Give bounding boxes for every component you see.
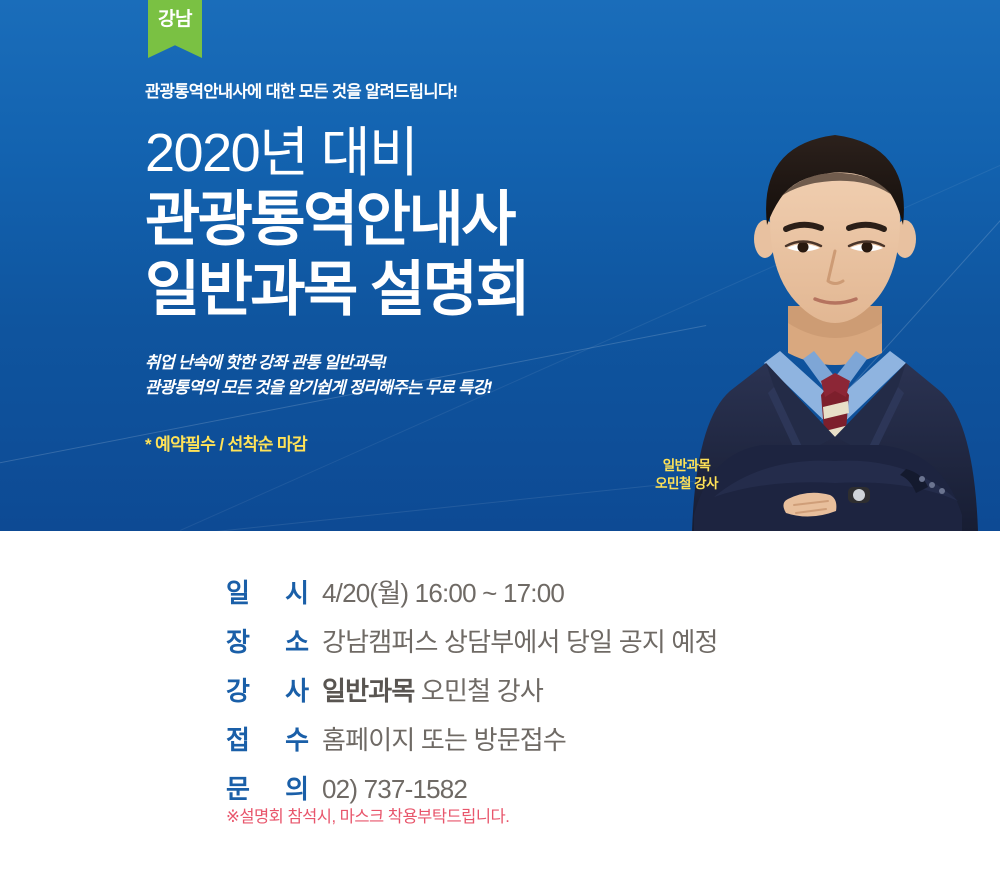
hero-description-line-1: 취업 난속에 핫한 강좌 관통 일반과목! [145,351,705,377]
event-details-panel: 일 시 4/20(월) 16:00 ~ 17:00 장 소 강남캠퍼스 상담부에… [0,531,1000,880]
mask-footnote: ※설명회 참석시, 마스크 착용부탁드립니다. [226,803,509,827]
hero-reservation-note: * 예약필수 / 선착순 마감 [145,430,705,455]
table-row: 문 의 02) 737-1582 [222,769,718,806]
hero-description-line-2: 관광통역의 모든 것을 알기쉽게 정리해주는 무료 특강! [145,376,705,402]
detail-value-inquiry: 02) 737-1582 [322,774,467,805]
table-row: 강 사 일반과목 오민철 강사 [222,671,718,708]
detail-label-instructor: 강 사 [222,671,322,708]
instructor-subject: 일반과목 [655,457,718,475]
table-row: 장 소 강남캠퍼스 상담부에서 당일 공지 예정 [222,622,718,659]
hero-title-line-3: 일반과목 설명회 [145,255,705,325]
hero-title-line-1: 2020년 대비 [145,125,705,182]
campus-badge-label: 강남 [158,10,192,29]
hero-banner: 강남 관광통역안내사에 대한 모든 것을 알려드립니다! 2020년 대비 관광… [0,0,1000,531]
hero-eyebrow: 관광통역안내사에 대한 모든 것을 알려드립니다! [145,82,705,103]
campus-badge: 강남 [148,0,202,58]
instructor-caption: 일반과목 오민철 강사 [655,457,718,493]
instructor-name: 오민철 강사 [655,475,718,493]
table-row: 접 수 홈페이지 또는 방문접수 [222,720,718,757]
detail-value-location: 강남캠퍼스 상담부에서 당일 공지 예정 [322,622,718,659]
hero-description: 취업 난속에 핫한 강좌 관통 일반과목! 관광통역의 모든 것을 알기쉽게 정… [145,351,705,402]
detail-value-registration: 홈페이지 또는 방문접수 [322,720,566,757]
event-details-table: 일 시 4/20(월) 16:00 ~ 17:00 장 소 강남캠퍼스 상담부에… [222,573,718,818]
detail-value-instructor: 일반과목 오민철 강사 [322,671,543,708]
hero-copy: 관광통역안내사에 대한 모든 것을 알려드립니다! 2020년 대비 관광통역안… [145,82,705,455]
detail-label-date: 일 시 [222,573,322,610]
hero-title-line-2: 관광통역안내사 [145,185,705,255]
detail-value-instructor-subject: 일반과목 [322,676,414,706]
detail-label-location: 장 소 [222,622,322,659]
detail-label-inquiry: 문 의 [222,769,322,806]
detail-value-date: 4/20(월) 16:00 ~ 17:00 [322,573,564,610]
detail-value-instructor-name: 오민철 강사 [421,676,543,706]
instructor-photo [670,101,1000,531]
promo-poster: 강남 관광통역안내사에 대한 모든 것을 알려드립니다! 2020년 대비 관광… [0,0,1000,880]
table-row: 일 시 4/20(월) 16:00 ~ 17:00 [222,573,718,610]
detail-label-registration: 접 수 [222,720,322,757]
